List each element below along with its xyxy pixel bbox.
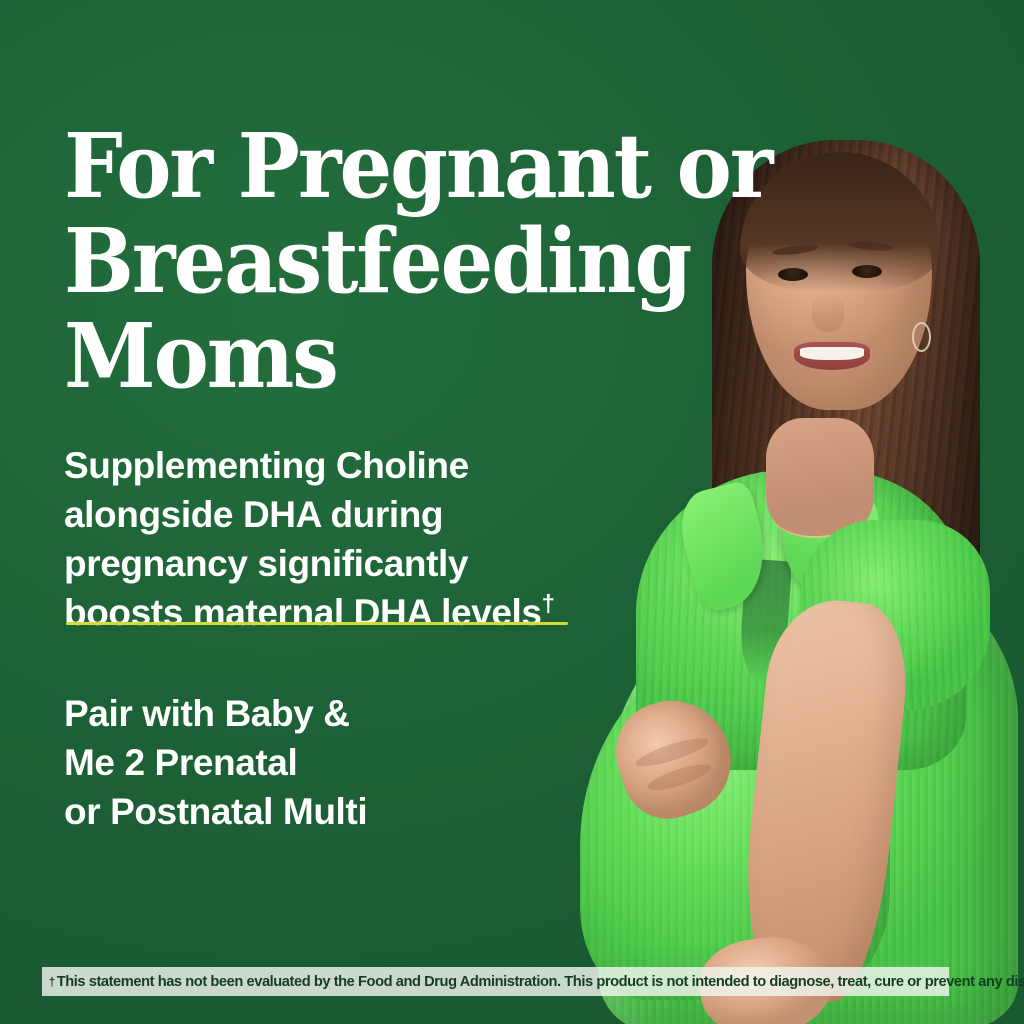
product-marketing-banner: For Pregnant or Breastfeeding Moms Suppl…	[0, 0, 1024, 1024]
fda-disclaimer-bar: †This statement has not been evaluated b…	[42, 967, 949, 996]
eye-right	[852, 265, 882, 278]
subhead-claim: Supplementing Choline alongside DHA duri…	[64, 441, 624, 637]
disclaimer-text: This statement has not been evaluated by…	[57, 973, 1024, 990]
pair-with-products-text: Pair with Baby & Me 2 Prenatal or Postna…	[64, 689, 584, 836]
page-title: For Pregnant or Breastfeeding Moms	[64, 118, 817, 403]
hoop-earring	[912, 322, 931, 352]
subhead-claim-text: Supplementing Choline alongside DHA duri…	[64, 445, 542, 633]
divider-rule	[66, 622, 568, 625]
footnote-dagger-icon: †	[542, 591, 555, 618]
